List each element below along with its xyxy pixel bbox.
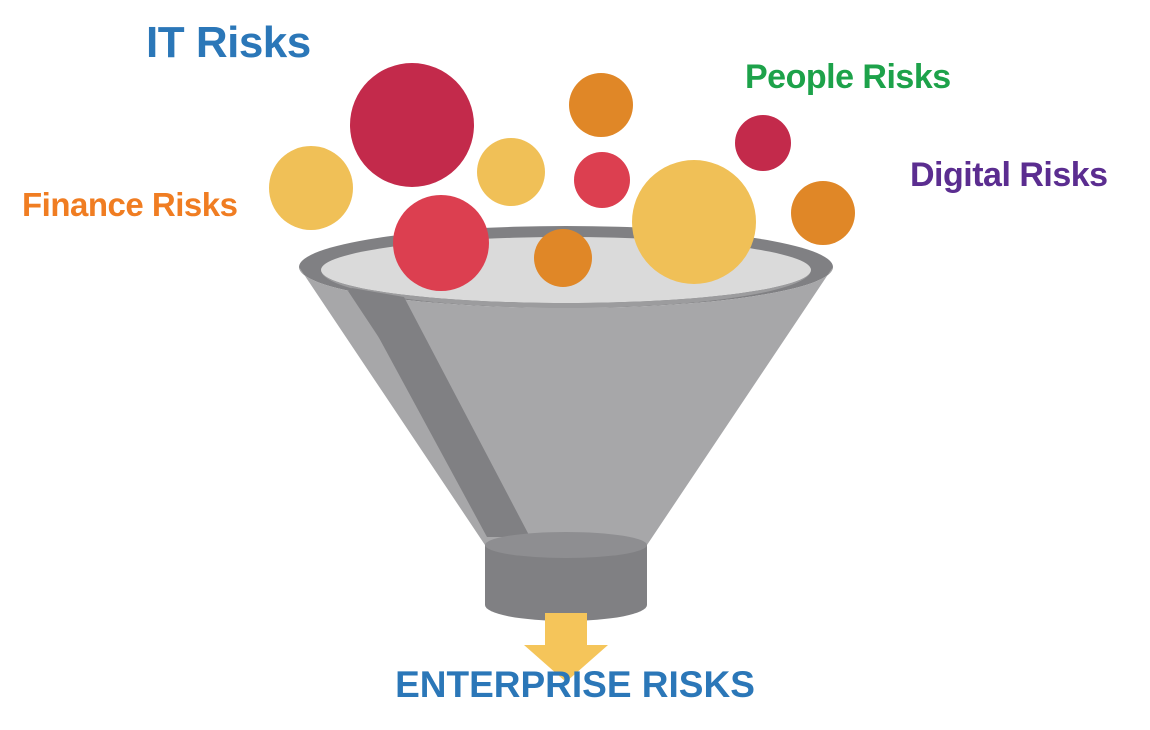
risk-funnel-illustration (0, 0, 1150, 730)
risk-bubble-crimson-large[interactable] (350, 63, 474, 187)
risk-bubble-yellow-small[interactable] (477, 138, 545, 206)
label-enterprise-risks: ENTERPRISE RISKS (0, 666, 1150, 703)
risk-bubble-orange-right[interactable] (791, 181, 855, 245)
label-people-risks: People Risks (745, 60, 951, 94)
label-finance-risks: Finance Risks (22, 188, 237, 221)
label-digital-risks: Digital Risks (910, 158, 1108, 192)
risk-bubble-yellow-large[interactable] (632, 160, 756, 284)
risk-bubble-orange-inner[interactable] (534, 229, 592, 287)
funnel-stem-top (485, 532, 647, 558)
risk-bubble-crimson-small[interactable] (735, 115, 791, 171)
label-it-risks: IT Risks (146, 21, 311, 65)
risk-bubble-yellow-left[interactable] (269, 146, 353, 230)
risk-bubble-orange-top[interactable] (569, 73, 633, 137)
diagram-canvas: IT Risks Finance Risks People Risks Digi… (0, 0, 1150, 730)
risk-bubble-red-small[interactable] (574, 152, 630, 208)
risk-bubble-red-mid[interactable] (393, 195, 489, 291)
